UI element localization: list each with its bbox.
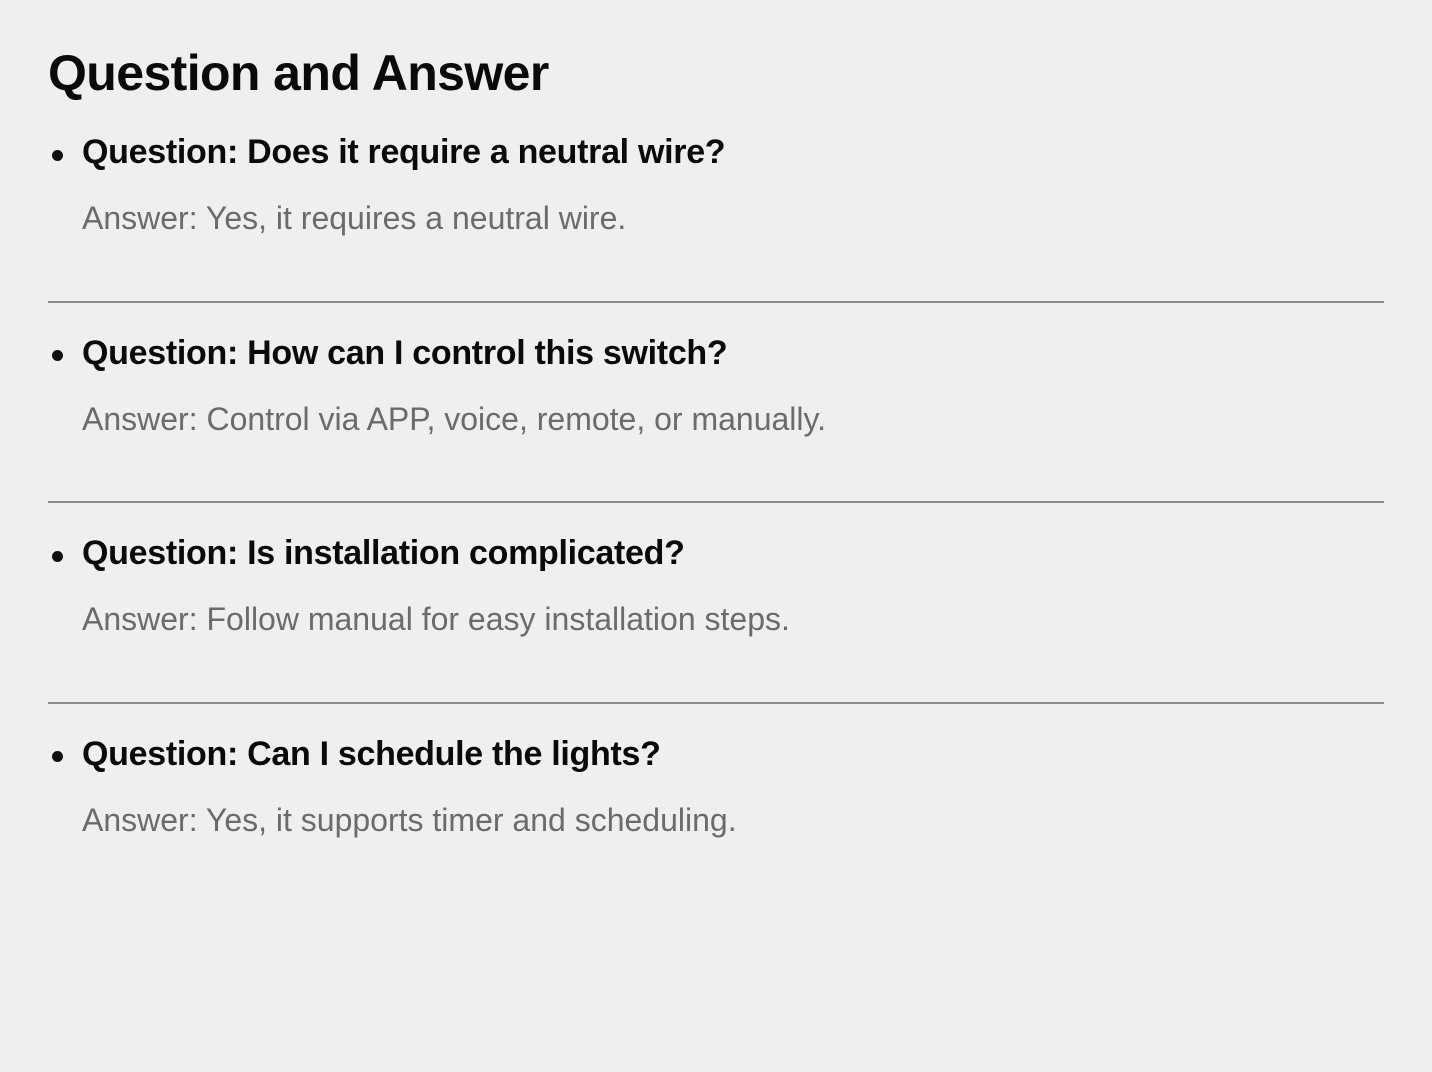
- qa-question: Question: How can I control this switch?: [48, 333, 1384, 374]
- qa-question: Question: Can I schedule the lights?: [48, 734, 1384, 775]
- list-item: Question: How can I control this switch?…: [48, 301, 1384, 470]
- qa-question: Question: Does it require a neutral wire…: [48, 132, 1384, 173]
- qa-answer: Answer: Control via APP, voice, remote, …: [48, 374, 1384, 469]
- qa-answer: Answer: Follow manual for easy installat…: [48, 574, 1384, 669]
- qa-page: Question and Answer Question: Does it re…: [0, 0, 1432, 1072]
- list-item: Question: Does it require a neutral wire…: [48, 102, 1384, 269]
- qa-question-text: Question: Is installation complicated?: [82, 534, 685, 572]
- qa-answer: Answer: Yes, it supports timer and sched…: [48, 775, 1384, 870]
- list-item: Question: Is installation complicated? A…: [48, 501, 1384, 670]
- qa-question-text: Question: Can I schedule the lights?: [82, 735, 661, 773]
- bullet-dot-icon: [52, 350, 63, 361]
- qa-answer: Answer: Yes, it requires a neutral wire.: [48, 173, 1384, 268]
- bullet-dot-icon: [52, 551, 63, 562]
- bullet-dot-icon: [52, 751, 63, 762]
- qa-question: Question: Is installation complicated?: [48, 533, 1384, 574]
- page-title: Question and Answer: [48, 0, 1384, 102]
- list-item: Question: Can I schedule the lights? Ans…: [48, 702, 1384, 871]
- bullet-dot-icon: [52, 150, 63, 161]
- qa-list: Question: Does it require a neutral wire…: [48, 102, 1384, 870]
- qa-question-text: Question: How can I control this switch?: [82, 334, 727, 372]
- qa-question-text: Question: Does it require a neutral wire…: [82, 133, 725, 171]
